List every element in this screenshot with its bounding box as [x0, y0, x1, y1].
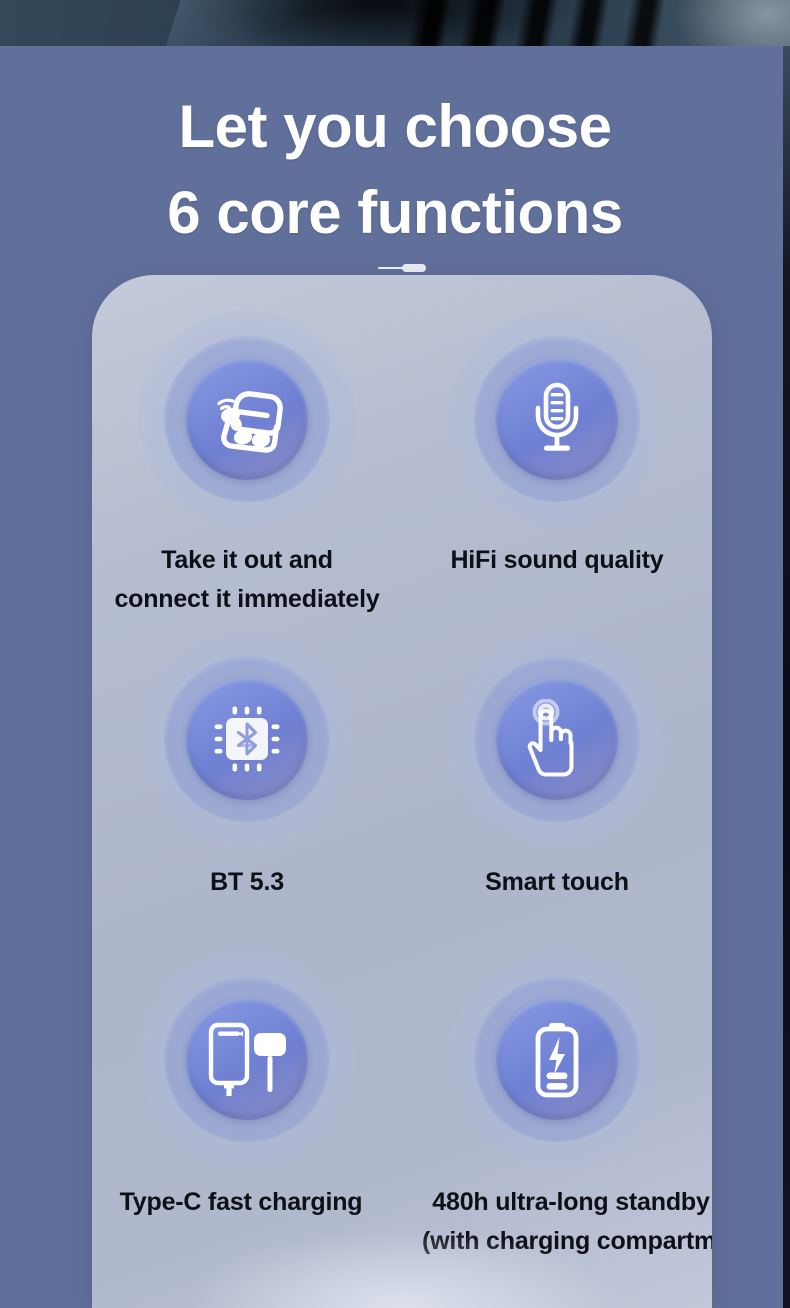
bluetooth-chip-icon — [208, 700, 286, 778]
caption-line-1: Type-C fast charging — [92, 1183, 396, 1222]
icon-halo-outer — [448, 630, 666, 848]
icon-halo-mid — [164, 656, 330, 822]
battery-bolt-icon — [530, 1020, 584, 1098]
phone-charger-icon — [204, 1019, 290, 1099]
icon-halo-outer — [138, 630, 356, 848]
feature-caption: HiFi sound quality — [402, 541, 712, 580]
earbuds-case-wireless-icon — [207, 381, 287, 457]
feature-caption: Smart touch — [402, 863, 712, 902]
pill-mark — [402, 264, 426, 272]
dash-and-pill-mark-icon — [378, 264, 426, 272]
microphone-icon — [527, 381, 587, 457]
feature-item-smart-touch[interactable]: Smart touch — [402, 595, 712, 915]
top-photo-strip — [0, 0, 790, 46]
icon-halo-mid — [474, 976, 640, 1142]
title-line-2: 6 core functions — [0, 170, 790, 256]
caption-line-1: HiFi sound quality — [402, 541, 712, 580]
feature-card: Take it out and connect it immediately — [92, 275, 712, 1308]
right-edge-sliver — [783, 46, 790, 1308]
feature-item-standby[interactable]: 480h ultra-long standby (with charging c… — [402, 915, 712, 1235]
icon-halo-mid — [164, 976, 330, 1142]
icon-disc — [186, 998, 308, 1120]
page-title: Let you choose 6 core functions — [0, 84, 790, 256]
caption-line-1: 480h ultra-long standby — [416, 1183, 712, 1222]
feature-item-take-it-out[interactable]: Take it out and connect it immediately — [92, 275, 402, 595]
icon-disc — [186, 358, 308, 480]
icon-disc — [496, 678, 618, 800]
feature-caption: 480h ultra-long standby (with charging c… — [416, 1183, 712, 1261]
feature-caption: Type-C fast charging — [92, 1183, 396, 1222]
caption-line-1: BT 5.3 — [92, 863, 402, 902]
title-line-1: Let you choose — [0, 84, 790, 170]
feature-item-hifi-sound[interactable]: HiFi sound quality — [402, 275, 712, 595]
icon-halo-outer — [448, 310, 666, 528]
icon-halo-mid — [164, 336, 330, 502]
caption-line-1: Take it out and — [92, 541, 402, 580]
icon-disc — [496, 998, 618, 1120]
feature-item-typec-charging[interactable]: Type-C fast charging — [92, 915, 402, 1235]
touch-hand-icon — [522, 699, 592, 779]
product-feature-page: Let you choose 6 core functions — [0, 0, 790, 1308]
feature-caption: BT 5.3 — [92, 863, 402, 902]
icon-disc — [186, 678, 308, 800]
icon-disc — [496, 358, 618, 480]
photo-glint — [158, 0, 309, 46]
feature-item-bt53[interactable]: BT 5.3 — [92, 595, 402, 915]
icon-halo-mid — [474, 336, 640, 502]
icon-halo-mid — [474, 656, 640, 822]
feature-grid: Take it out and connect it immediately — [92, 275, 712, 1235]
icon-halo-outer — [138, 950, 356, 1168]
icon-halo-outer — [138, 310, 356, 528]
caption-line-2: (with charging compartment) — [422, 1222, 712, 1261]
caption-line-1: Smart touch — [402, 863, 712, 902]
icon-halo-outer — [448, 950, 666, 1168]
